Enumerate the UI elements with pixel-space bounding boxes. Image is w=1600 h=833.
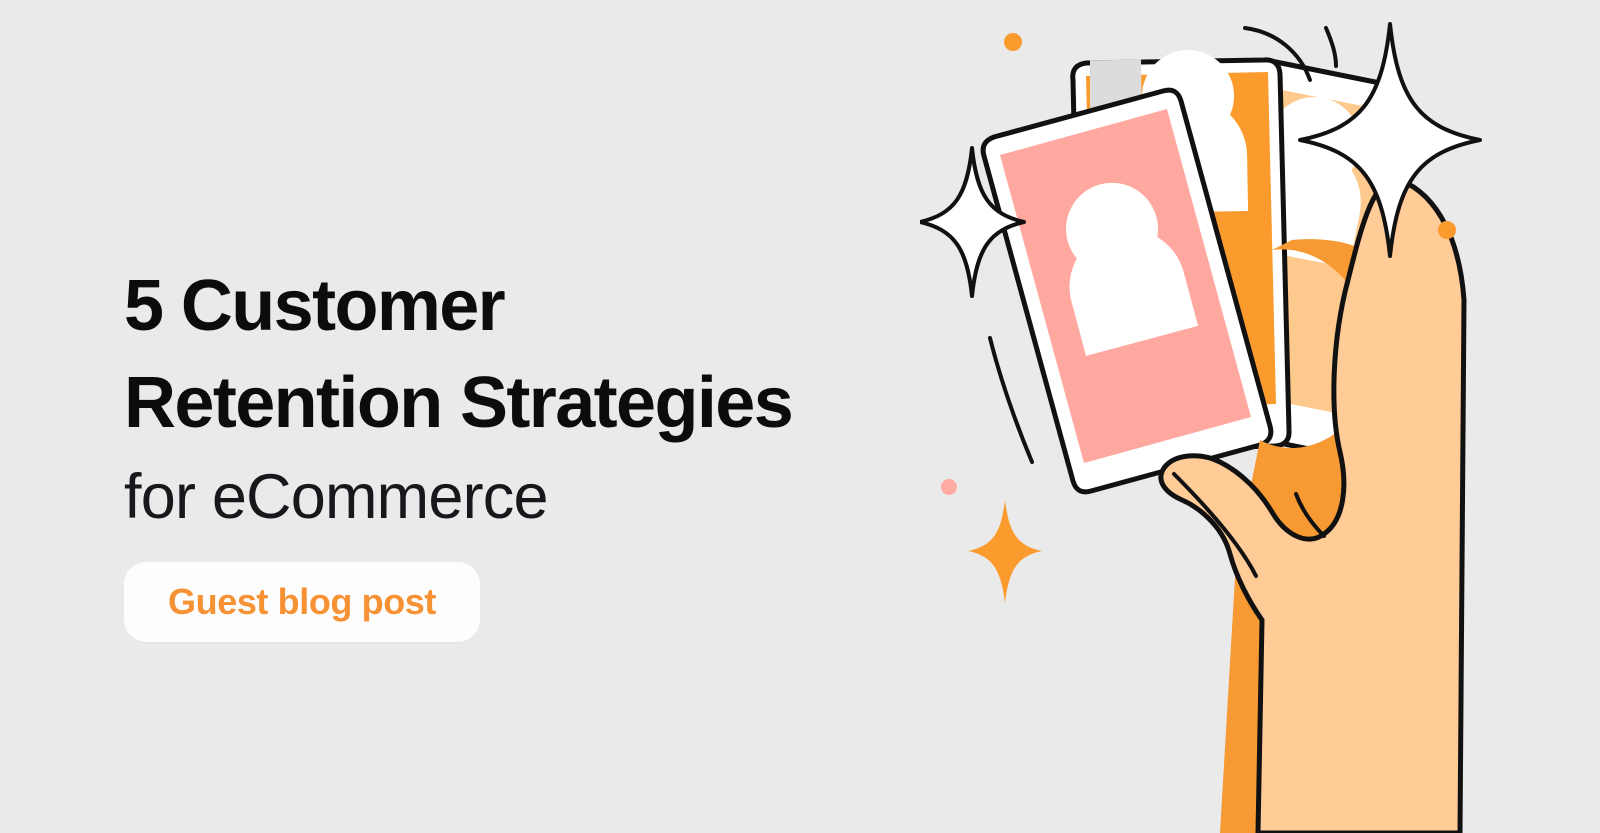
page-title-line-1: 5 Customer [124, 258, 924, 355]
page-title: 5 Customer Retention Strategies [124, 258, 924, 452]
motion-line-short [1326, 28, 1336, 66]
dot-orange-right [1438, 221, 1456, 239]
motion-line-left [990, 338, 1032, 462]
dot-pink-bottom [941, 479, 957, 495]
dot-orange-top [1004, 33, 1022, 51]
guest-blog-post-badge[interactable]: Guest blog post [124, 562, 480, 642]
page-title-line-2: Retention Strategies [124, 355, 924, 452]
blog-promo-banner: 5 Customer Retention Strategies for eCom… [0, 0, 1600, 833]
text-block: 5 Customer Retention Strategies for eCom… [124, 258, 924, 642]
sparkle-orange [968, 500, 1042, 603]
hero-illustration [920, 0, 1600, 833]
page-subtitle: for eCommerce [124, 458, 924, 536]
